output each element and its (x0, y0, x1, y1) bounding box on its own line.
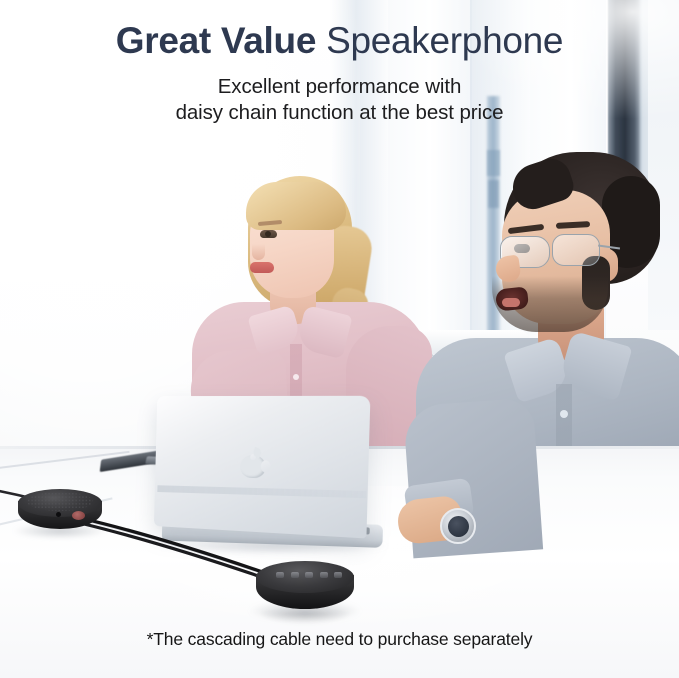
cable-strand-1 (80, 518, 268, 574)
cable-strand-2 (80, 523, 270, 580)
woman-nose (252, 244, 265, 260)
footnote-disclaimer: *The cascading cable need to purchase se… (0, 629, 679, 650)
microphone-pinhole-icon (56, 512, 61, 517)
subtitle-line-1: Excellent performance with (0, 74, 679, 100)
headline-strong: Great Value (116, 20, 316, 61)
mute-button[interactable] (291, 572, 299, 578)
headline-light: Speakerphone (316, 20, 563, 61)
page-title: Great Value Speakerphone (0, 16, 679, 66)
volume-up-button[interactable] (334, 572, 342, 578)
volume-down-button[interactable] (276, 572, 284, 578)
status-led-indicator (72, 511, 85, 520)
speakerphone-right[interactable] (256, 561, 354, 617)
subtitle-line-2: daisy chain function at the best price (0, 100, 679, 126)
call-end-button[interactable] (320, 572, 328, 578)
woman-shirt-button (293, 374, 299, 380)
call-answer-button[interactable] (305, 572, 313, 578)
product-banner: Great Value Speakerphone Excellent perfo… (0, 0, 679, 678)
microphone-grille-icon (27, 492, 93, 511)
woman-lips (250, 262, 274, 273)
subtitle: Excellent performance with daisy chain f… (0, 74, 679, 126)
woman-eye (260, 230, 277, 238)
speakerphone-left[interactable] (18, 489, 102, 537)
speakerphone-control-buttons[interactable] (276, 570, 342, 579)
